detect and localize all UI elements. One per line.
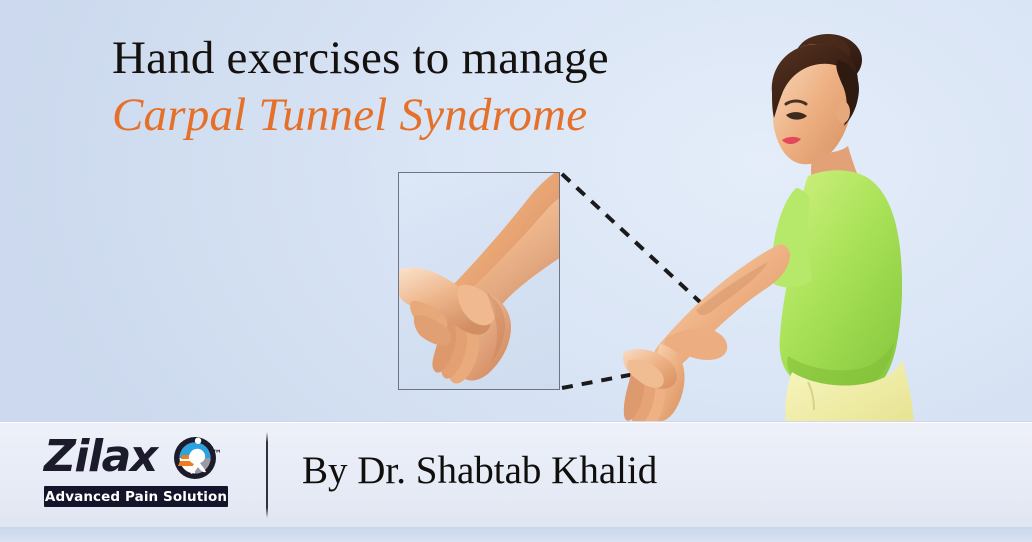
author-byline: By Dr. Shabtab Khalid	[302, 448, 657, 494]
hand-stretch-illustration	[399, 173, 560, 390]
logo-wordmark-text: Zilax	[44, 431, 157, 482]
logo-wordmark-row: Zilax ™	[44, 434, 240, 482]
footer-underline-strip	[0, 527, 1032, 542]
banner-root: Hand exercises to manage Carpal Tunnel S…	[0, 0, 1032, 542]
zilaxo-logo[interactable]: Zilax ™ Advanced Pain Solution	[44, 434, 240, 508]
logo-tagline-text: Advanced Pain Solution	[45, 489, 227, 505]
woman-performing-wrist-stretch	[600, 0, 1032, 430]
trademark-icon: ™	[212, 432, 222, 478]
zoomed-hand-stretch-inset	[398, 172, 560, 390]
logo-tagline-bar: Advanced Pain Solution	[44, 486, 228, 507]
footer-divider	[266, 432, 268, 518]
